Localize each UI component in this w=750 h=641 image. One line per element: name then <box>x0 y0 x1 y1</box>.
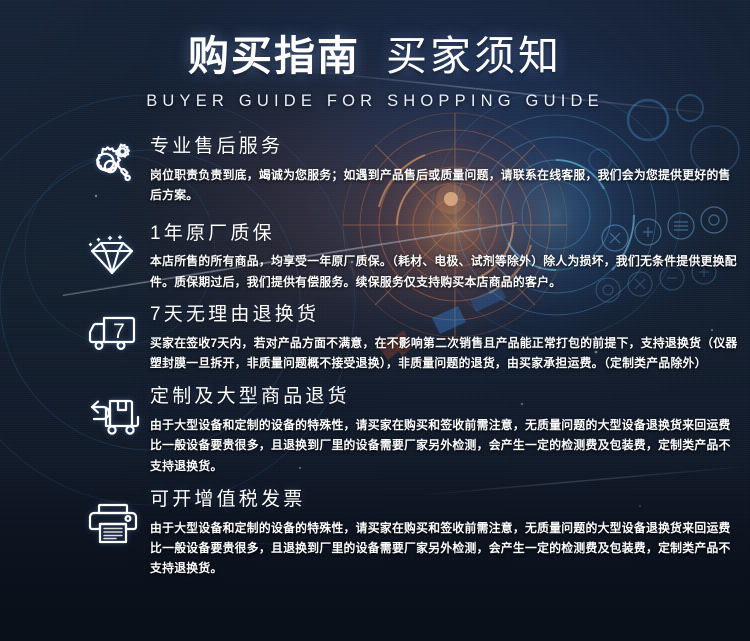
guide-section-warranty: 1年原厂质保 本店所售的所有商品，均享受一年原厂质保。（耗材、电极、试剂等除外）… <box>88 222 738 292</box>
truck-7-icon: 7 <box>88 303 150 354</box>
section-text: 由于大型设备和定制的设备的特殊性，请买家在购买和签收前需注意，无质量问题的大型设… <box>150 518 738 579</box>
section-text: 岗位职责负责到底，竭诚为您服务；如遇到产品售后或质量问题，请联系在线客服，我们会… <box>150 165 738 206</box>
guide-section-seven-day-return: 7 7天无理由退换货 买家在签收7天内，若对产品方面不满意，在不影响第二次销售且… <box>88 303 738 373</box>
page-title-main: 购买指南 <box>188 34 360 79</box>
guide-section-list: 专业售后服务 岗位职责负责到底，竭诚为您服务；如遇到产品售后或质量问题，请联系在… <box>0 135 750 579</box>
section-text: 买家在签收7天内，若对产品方面不满意，在不影响第二次销售且产品能正常打包的前提下… <box>150 333 738 374</box>
section-title: 7天无理由退换货 <box>150 304 738 326</box>
guide-section-after-sales: 专业售后服务 岗位职责负责到底，竭诚为您服务；如遇到产品售后或质量问题，请联系在… <box>88 135 738 205</box>
section-text: 本店所售的所有商品，均享受一年原厂质保。（耗材、电极、试剂等除外）除人为损坏，我… <box>150 251 738 292</box>
return-truck-icon <box>88 385 150 439</box>
guide-section-vat-invoice: 可开增值税发票 由于大型设备和定制的设备的特殊性，请买家在购买和签收前需注意，无… <box>88 488 738 579</box>
section-title: 定制及大型商品退货 <box>150 386 738 408</box>
guide-section-custom-large-return: 定制及大型商品退货 由于大型设备和定制的设备的特殊性，请买家在购买和签收前需注意… <box>88 385 738 476</box>
section-text: 由于大型设备和定制的设备的特殊性，请买家在购买和签收前需注意，无质量问题的大型设… <box>150 415 738 476</box>
banner-header: 购买指南 买家须知 BUYER GUIDE FOR SHOPPING GUIDE <box>0 0 750 111</box>
buyer-guide-banner: 购买指南 买家须知 BUYER GUIDE FOR SHOPPING GUIDE <box>0 0 750 641</box>
printer-icon <box>88 488 150 546</box>
gear-wrench-icon <box>88 135 150 185</box>
section-title: 专业售后服务 <box>150 136 738 158</box>
page-title-sub: 买家须知 <box>386 34 562 79</box>
section-title: 可开增值税发票 <box>150 489 738 511</box>
title-row: 购买指南 买家须知 <box>0 34 750 79</box>
page-subtitle-english: BUYER GUIDE FOR SHOPPING GUIDE <box>0 92 750 111</box>
section-title: 1年原厂质保 <box>150 223 738 245</box>
diamond-icon <box>88 222 150 278</box>
svg-text:7: 7 <box>113 320 125 343</box>
